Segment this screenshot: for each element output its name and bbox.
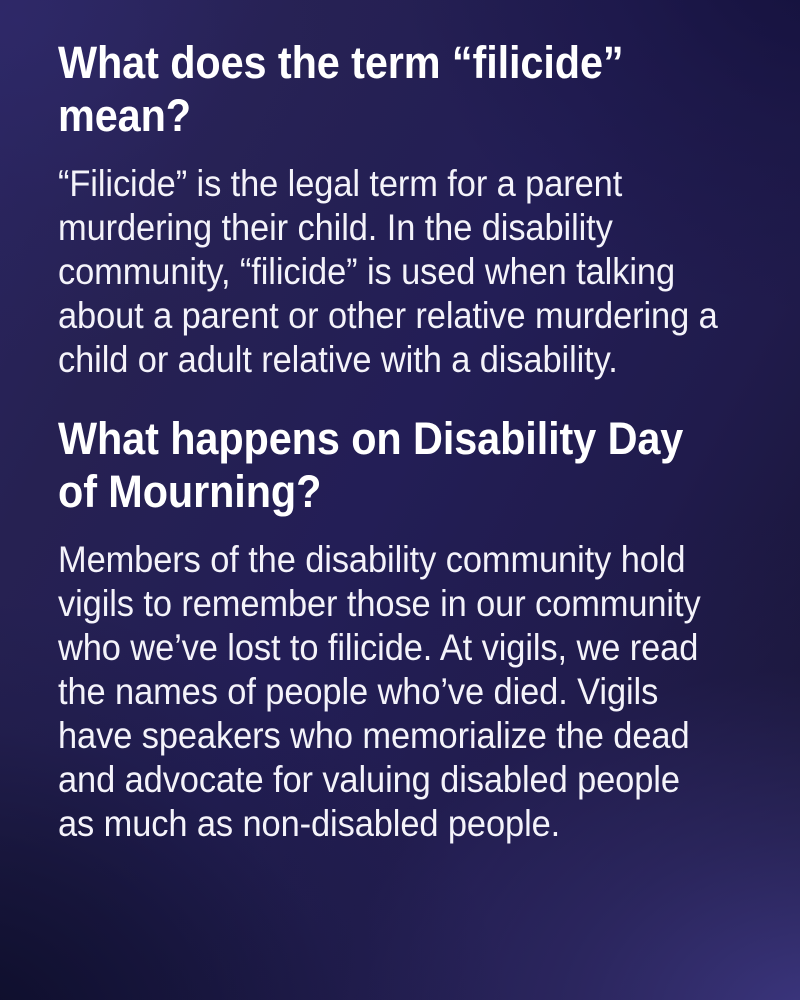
faq-card: What does the term “filicide” mean? “Fil…: [0, 0, 800, 1000]
heading-answer-spacer: [58, 146, 720, 162]
qa-section-filicide-definition: What does the term “filicide” mean? “Fil…: [58, 36, 720, 382]
question-heading-filicide-definition: What does the term “filicide” mean?: [58, 36, 722, 142]
card-content: What does the term “filicide” mean? “Fil…: [0, 0, 800, 846]
qa-section-day-of-mourning: What happens on Disability Day of Mourni…: [58, 412, 720, 846]
heading-answer-spacer: [58, 522, 720, 538]
answer-text-filicide-definition: “Filicide” is the legal term for a paren…: [58, 162, 723, 382]
answer-text-day-of-mourning: Members of the disability community hold…: [58, 538, 723, 846]
question-heading-day-of-mourning: What happens on Disability Day of Mourni…: [58, 412, 722, 518]
